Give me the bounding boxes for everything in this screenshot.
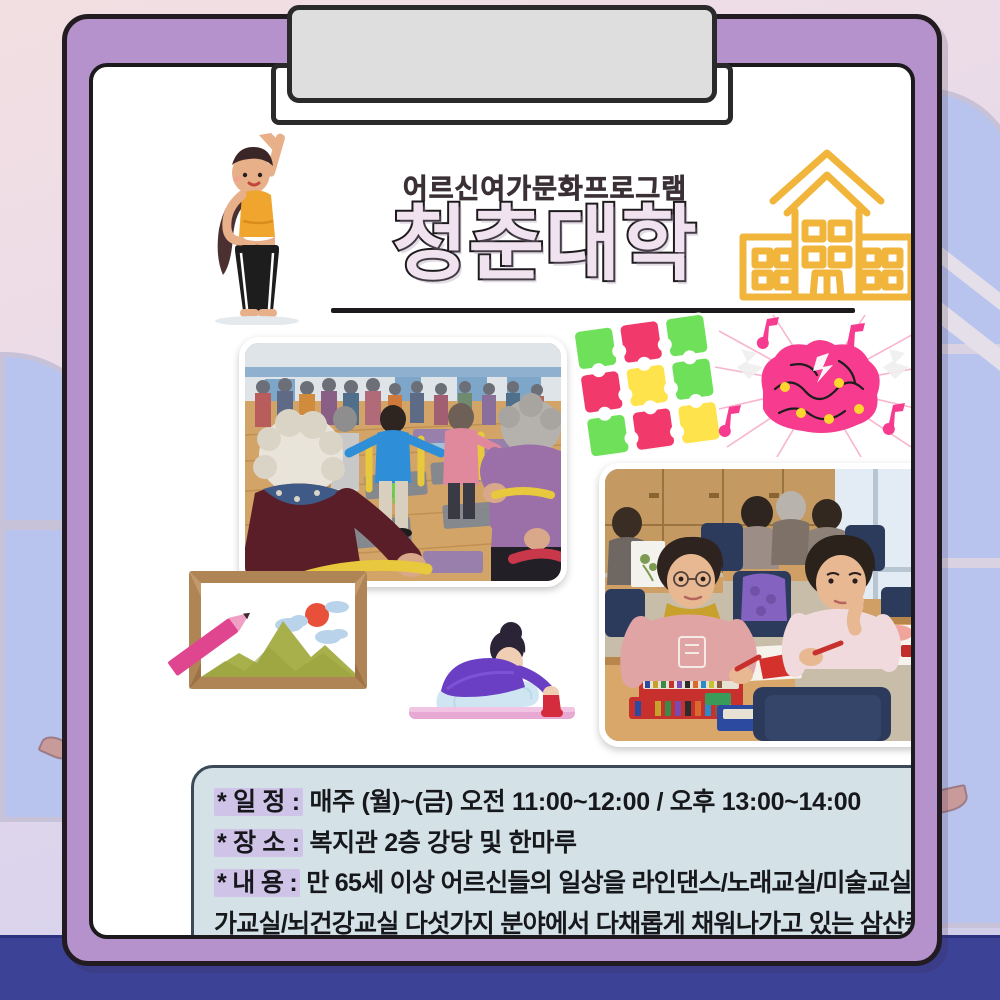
- brain-music-icon: [713, 313, 915, 459]
- yoga-woman-illustration: [403, 611, 583, 723]
- school-building-icon: [733, 145, 915, 305]
- stretching-woman-illustration: [185, 125, 325, 325]
- framed-landscape-painting-icon: [165, 557, 381, 703]
- place-label: * 장 소 :: [214, 829, 303, 857]
- content-label: * 내 용 :: [214, 869, 300, 897]
- program-info-box: * 일 정 : 매주 (월)~(금) 오전 11:00~12:00 / 오후 1…: [191, 765, 915, 939]
- info-row-place: * 장 소 : 복지관 2층 강당 및 한마루: [214, 823, 915, 864]
- info-row-schedule: * 일 정 : 매주 (월)~(금) 오전 11:00~12:00 / 오후 1…: [214, 782, 915, 823]
- poster-page: 어르신여가문화프로그램 청춘대학: [89, 63, 915, 939]
- schedule-label: * 일 정 :: [214, 788, 303, 816]
- clipboard-frame: 어르신여가문화프로그램 청춘대학: [62, 14, 942, 966]
- content-value: 만 65세 이상 어르신들의 일상을 라인댄스/노래교실/미술교실/요가교실/뇌…: [214, 869, 915, 939]
- window-mullion-v: [0, 352, 5, 822]
- place-value: 복지관 2층 강당 및 한마루: [309, 829, 576, 857]
- poster-canvas: 어르신여가문화프로그램 청춘대학: [0, 0, 1000, 1000]
- page-title: 청춘대학: [325, 203, 765, 287]
- puzzle-pieces-icon: [569, 307, 734, 458]
- photo-gym-exercise: 어르신 라인댄스 / 체조 수업 사진: [239, 337, 567, 587]
- clipboard-clip: [287, 5, 717, 103]
- info-row-content: * 내 용 : 만 65세 이상 어르신들의 일상을 라인댄스/노래교실/미술교…: [214, 863, 915, 939]
- photo-art-class: 어르신 미술교실 수업 사진: [599, 463, 915, 747]
- schedule-value: 매주 (월)~(금) 오전 11:00~12:00 / 오후 13:00~14:…: [309, 788, 861, 816]
